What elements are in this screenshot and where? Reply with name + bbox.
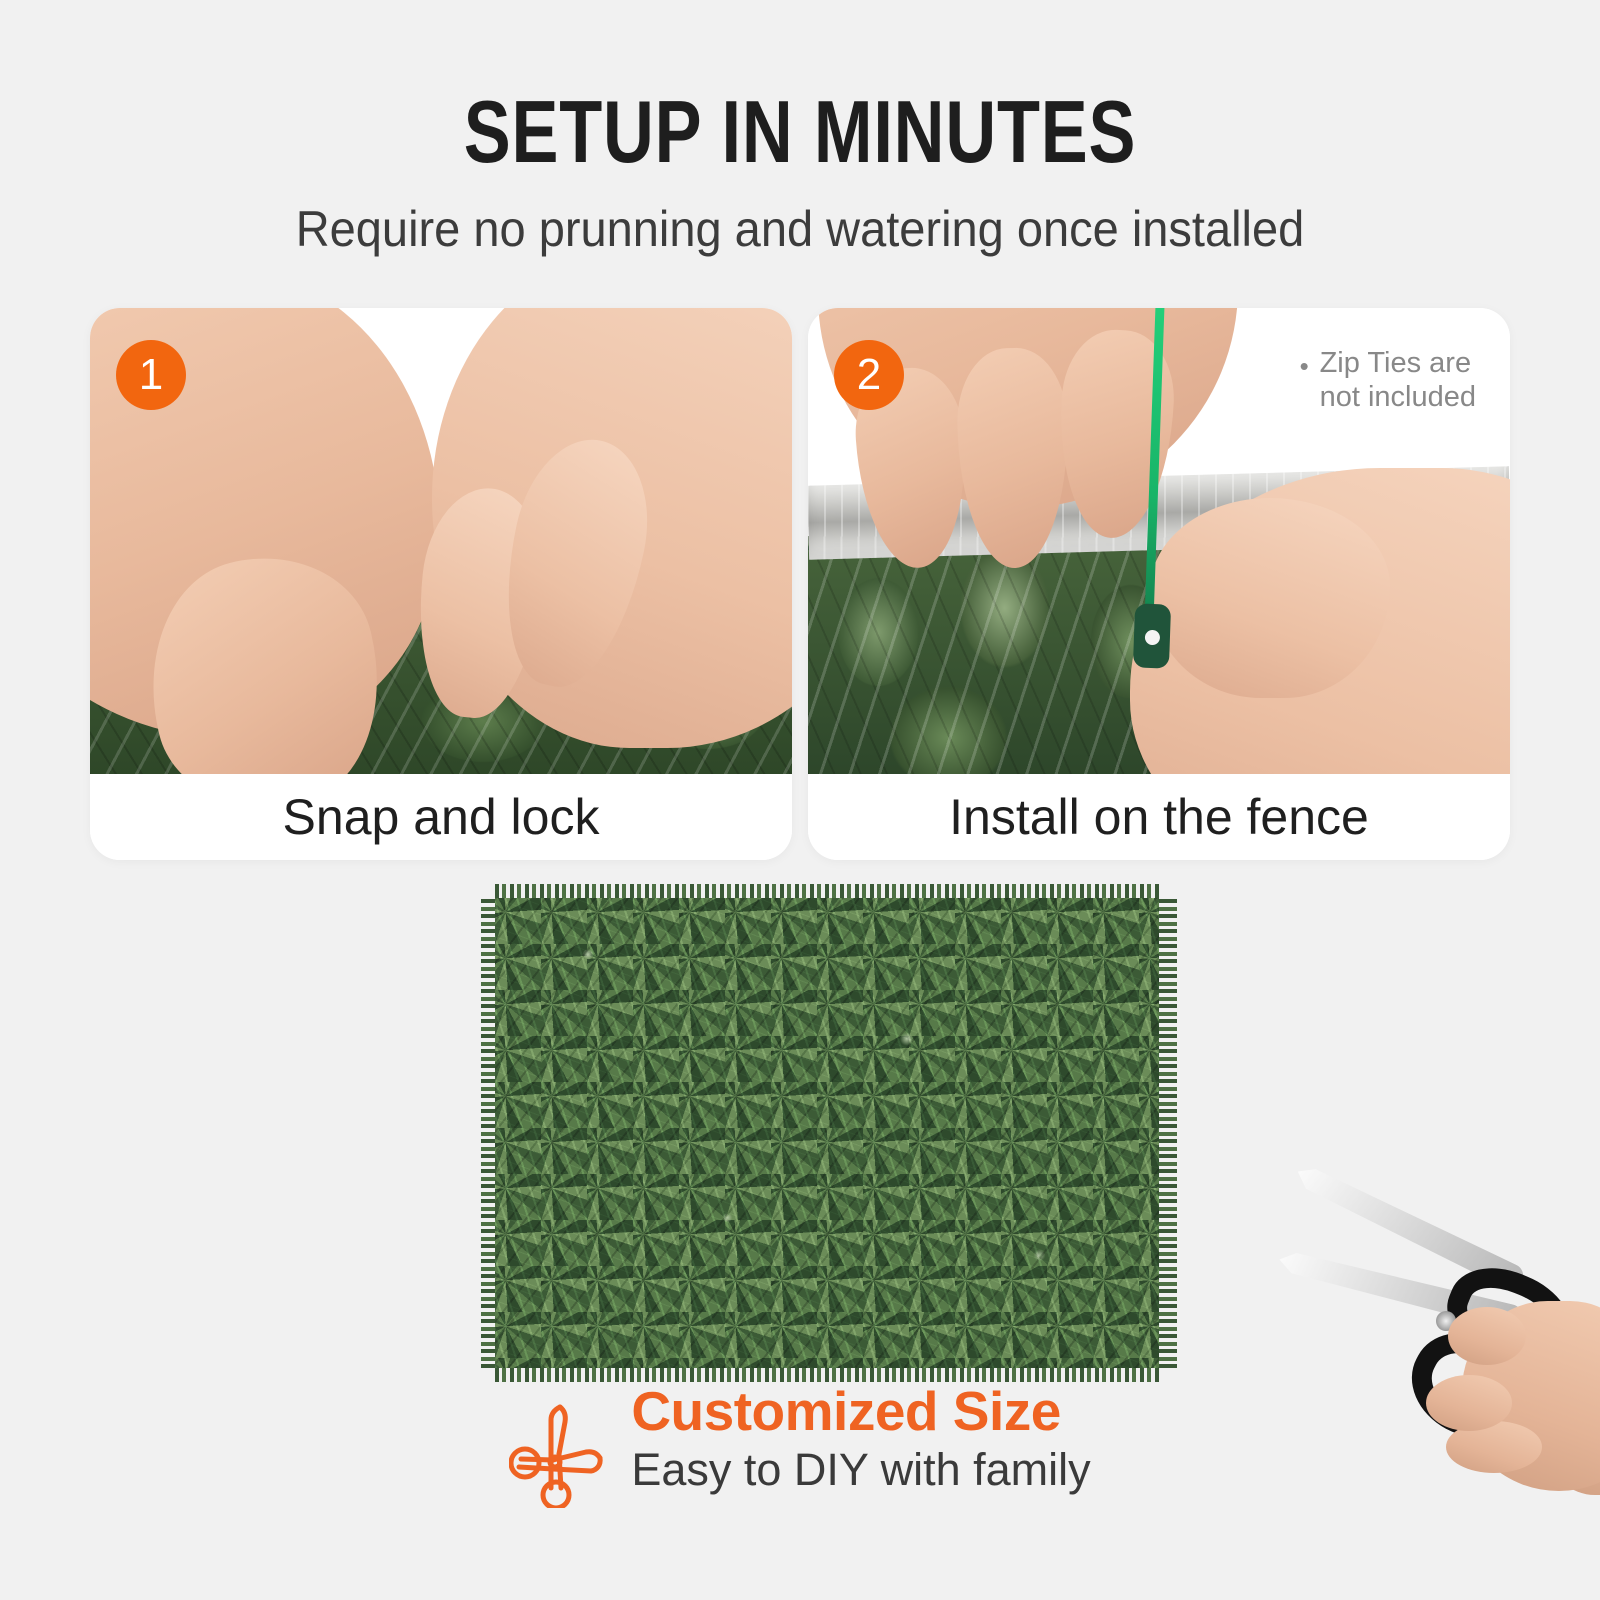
zip-ties-note-line-1: Zip Ties are (1320, 346, 1476, 380)
step-1-photo: 1 (90, 308, 792, 776)
right-hand-knuckles (1150, 498, 1390, 698)
page-title: SETUP IN MINUTES (160, 86, 1440, 178)
footer-subtitle: Easy to DIY with family (631, 1445, 1090, 1495)
bullet-icon: • (1300, 351, 1309, 382)
step-2-caption: Install on the fence (808, 774, 1510, 860)
footer: Customized Size Easy to DIY with family (0, 1382, 1600, 1508)
zip-tie-head (1133, 603, 1171, 668)
scissors-hand-finger-2 (1426, 1375, 1512, 1431)
step-card-2[interactable]: • Zip Ties are not included 2 Install on… (808, 308, 1510, 860)
step-1-caption: Snap and lock (90, 774, 792, 860)
step-badge-1: 1 (116, 340, 186, 410)
hedge-panel-product-image (495, 898, 1159, 1368)
step-2-photo: • Zip Ties are not included 2 (808, 308, 1510, 776)
footer-text-block: Customized Size Easy to DIY with family (631, 1382, 1090, 1495)
scissors-hand-finger-1 (1448, 1307, 1526, 1365)
steps-row: 1 Snap and lock • Zip Ties are not inclu… (90, 308, 1510, 860)
page-subtitle: Require no prunning and watering once in… (48, 200, 1552, 258)
scissors-icon (509, 1396, 605, 1508)
zip-ties-note-line-2: not included (1320, 380, 1476, 414)
step-card-1[interactable]: 1 Snap and lock (90, 308, 792, 860)
step-badge-2: 2 (834, 340, 904, 410)
header: SETUP IN MINUTES Require no prunning and… (0, 0, 1600, 258)
footer-title: Customized Size (631, 1382, 1090, 1441)
zip-ties-note: • Zip Ties are not included (1320, 346, 1476, 414)
